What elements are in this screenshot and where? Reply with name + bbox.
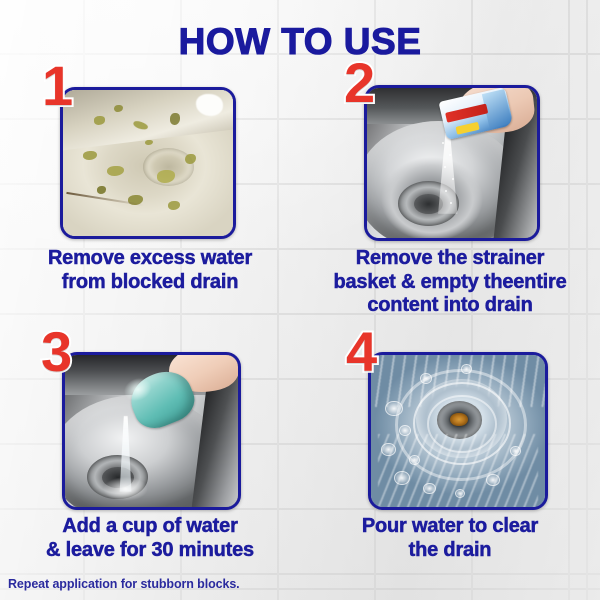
step-image-3 (62, 352, 241, 510)
how-to-use-poster: HOW TO USE 1 Remove excess water from bl… (0, 0, 600, 600)
step-number-3: 3 (41, 326, 72, 378)
step-caption-3-line-2: & leave for 30 minutes (0, 539, 300, 563)
step-caption-3-line-1: Add a cup of water (0, 515, 300, 539)
step-4: 4 (300, 300, 600, 600)
step-number-4: 4 (346, 326, 377, 378)
pouring-cup-of-water-illustration (65, 355, 238, 507)
step-number-2: 2 (344, 57, 375, 109)
step-caption-1: Remove excess water from blocked drain (0, 247, 300, 294)
step-caption-1-line-1: Remove excess water (0, 247, 300, 271)
drain-screw-icon (450, 413, 467, 427)
step-caption-3: Add a cup of water & leave for 30 minute… (0, 515, 300, 562)
step-2: 2 Remove the strain (300, 0, 600, 300)
water-draining-illustration (371, 355, 545, 507)
step-image-1 (60, 87, 236, 239)
step-image-4 (368, 352, 548, 510)
step-caption-1-line-2: from blocked drain (0, 271, 300, 295)
step-image-2 (364, 85, 540, 241)
step-3: 3 Add a cup of water & leave for 30 minu… (0, 300, 300, 600)
dirty-sink-basin-illustration (63, 90, 233, 236)
footer-note: Repeat application for stubborn blocks. (8, 577, 240, 591)
pouring-sachet-illustration (367, 88, 537, 238)
step-number-1: 1 (42, 60, 73, 112)
step-1: 1 Remove excess water from blocked drain (0, 0, 300, 300)
step-caption-4-line-1: Pour water to clear (300, 515, 600, 539)
step-caption-2-line-2: basket & empty theentire (300, 271, 600, 295)
step-caption-4: Pour water to clear the drain (300, 515, 600, 562)
step-caption-2-line-1: Remove the strainer (300, 247, 600, 271)
step-caption-4-line-2: the drain (300, 539, 600, 563)
